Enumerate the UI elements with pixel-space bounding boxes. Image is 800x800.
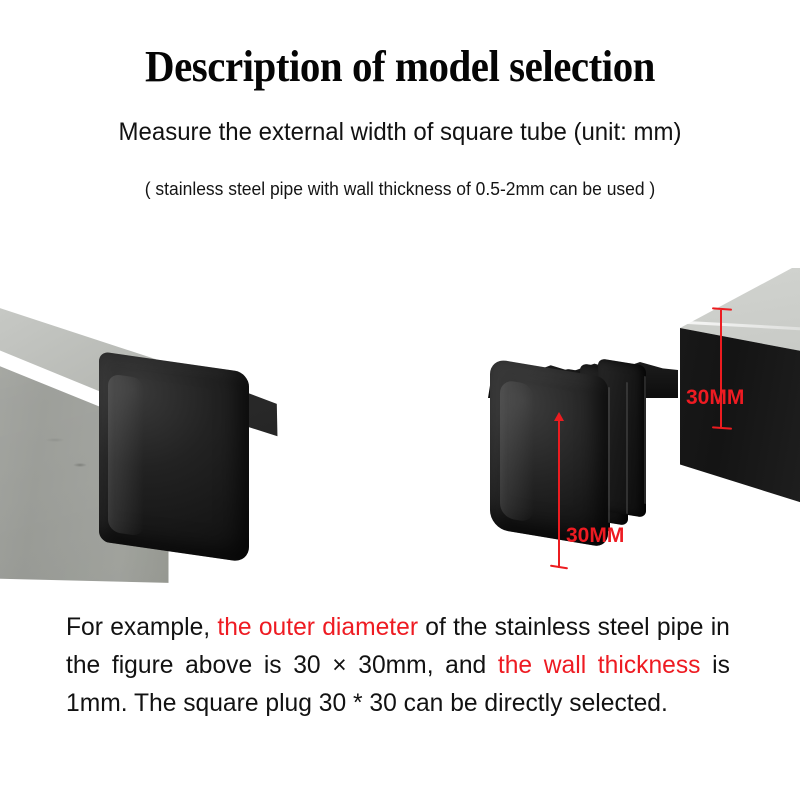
subtitle-measure-instruction: Measure the external width of square tub… bbox=[16, 116, 784, 148]
note-wall-thickness-range: ( stainless steel pipe with wall thickne… bbox=[12, 177, 788, 201]
plug-dimension-label: 30MM bbox=[566, 524, 624, 548]
plug-fin-separator-1 bbox=[644, 376, 646, 504]
dimension-line bbox=[558, 420, 560, 568]
paragraph-highlight-wall-thickness: the wall thickness bbox=[498, 651, 701, 679]
photo-steel-tube-open-end: 30MM bbox=[648, 268, 800, 568]
product-photo-strip: 30MM 30MM bbox=[0, 250, 800, 595]
paragraph-highlight-outer-diameter: the outer diameter bbox=[217, 613, 418, 641]
plug-fin-separator-3 bbox=[608, 387, 610, 523]
page-title: Description of model selection bbox=[28, 42, 772, 92]
photo-steel-tube-with-cap bbox=[0, 250, 290, 595]
product-description-image: Description of model selection Measure t… bbox=[0, 0, 800, 800]
plug-face-highlight bbox=[500, 379, 534, 523]
cap-gloss-highlight bbox=[108, 373, 144, 536]
explanatory-paragraph: For example, the outer diameter of the s… bbox=[66, 608, 730, 722]
plug-fin-separator-2 bbox=[626, 382, 628, 514]
dimension-tick-bottom bbox=[550, 565, 568, 570]
dimension-line bbox=[720, 310, 722, 428]
paragraph-segment-1: For example, bbox=[66, 613, 217, 641]
tube-dimension-label: 30MM bbox=[686, 386, 744, 410]
